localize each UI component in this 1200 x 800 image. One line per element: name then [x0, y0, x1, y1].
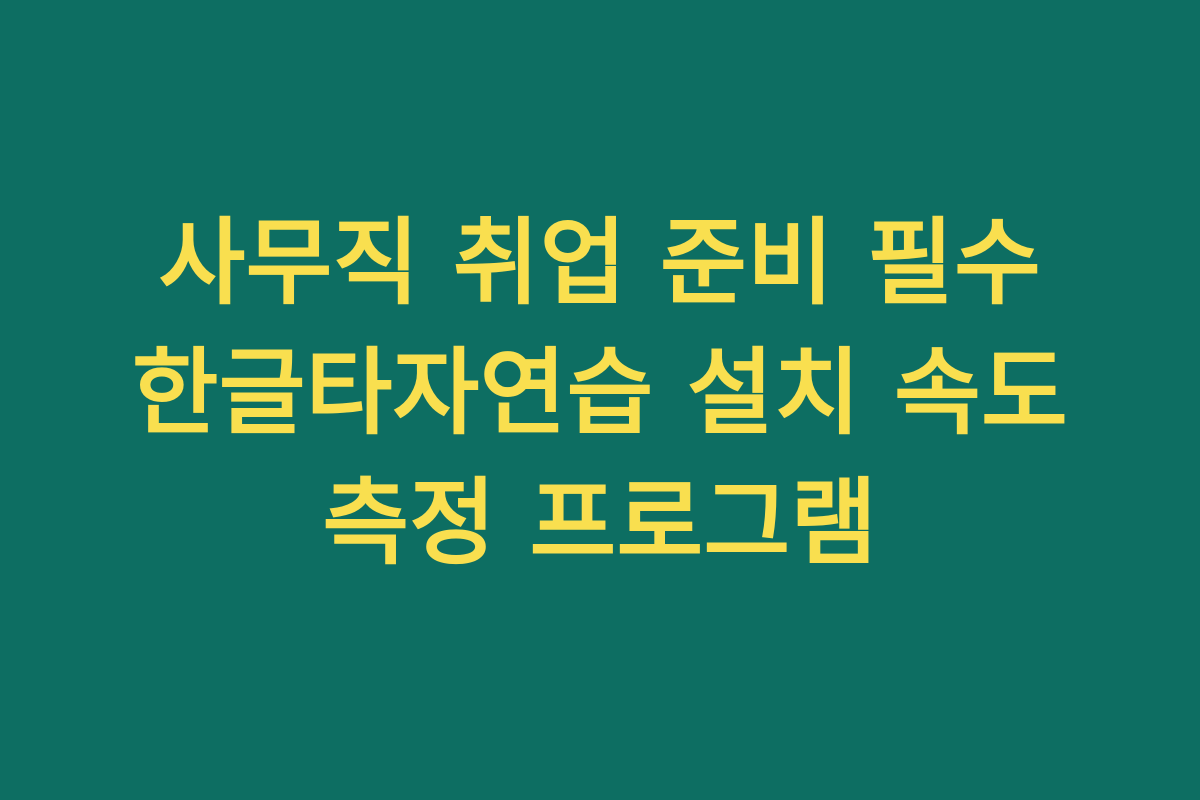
- headline-line-3: 측정 프로그램: [322, 459, 877, 589]
- headline-line-1: 사무직 취업 준비 필수: [159, 199, 1042, 329]
- banner-canvas: 사무직 취업 준비 필수 한글타자연습 설치 속도 측정 프로그램: [0, 0, 1200, 800]
- headline-block: 사무직 취업 준비 필수 한글타자연습 설치 속도 측정 프로그램: [0, 199, 1200, 589]
- headline-line-2: 한글타자연습 설치 속도: [132, 329, 1068, 459]
